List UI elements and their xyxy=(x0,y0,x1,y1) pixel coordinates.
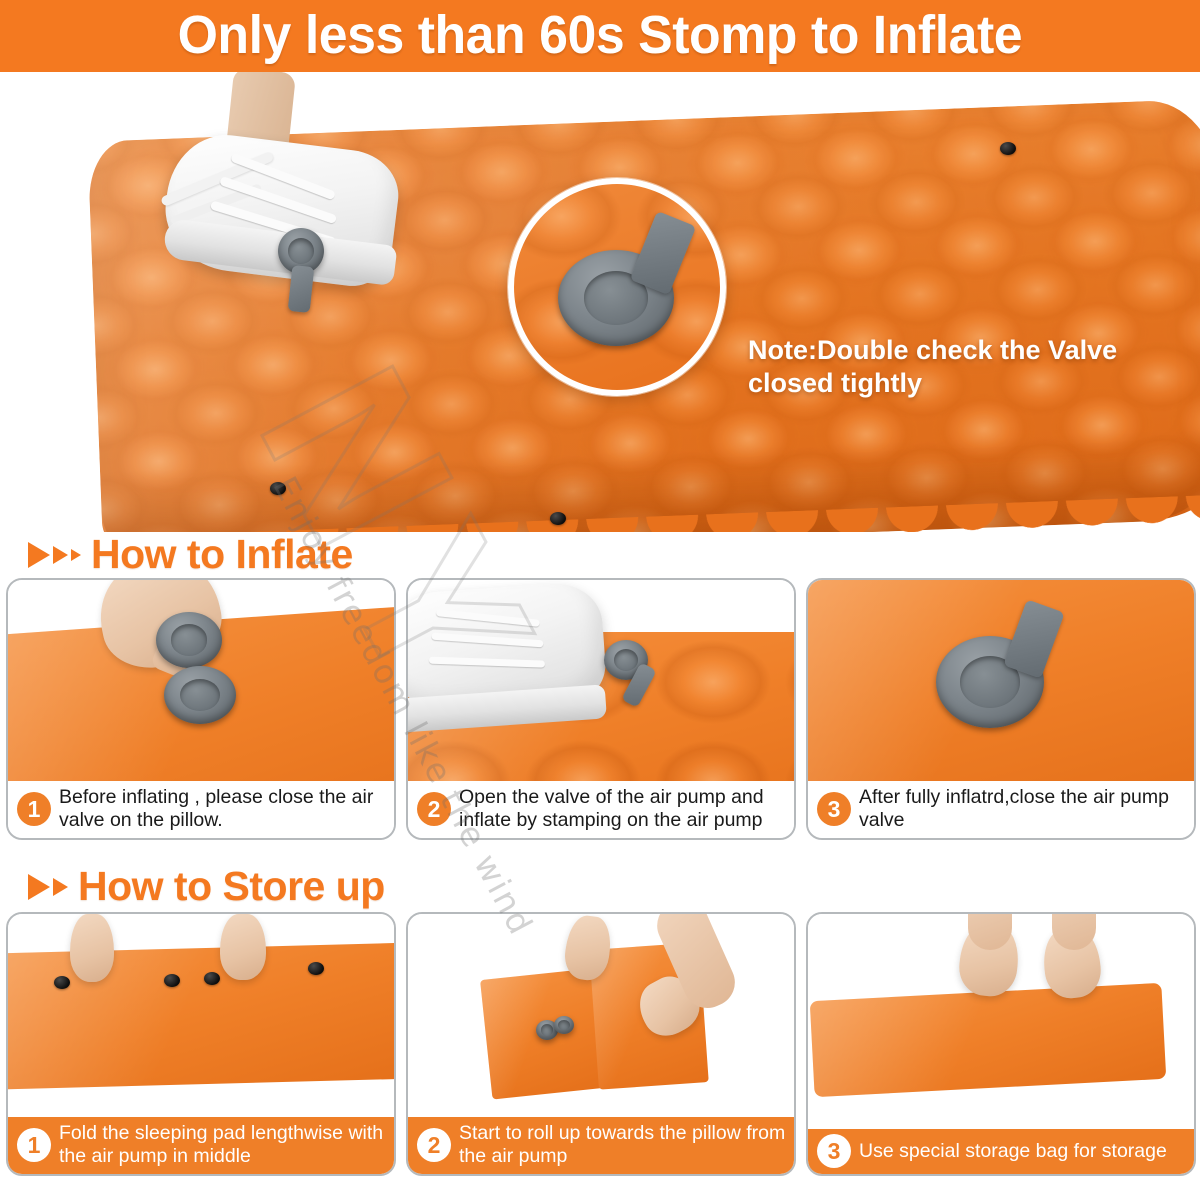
step-image xyxy=(408,580,794,781)
step-caption-text: Before inflating , please close the air … xyxy=(59,786,386,832)
step-number-badge: 2 xyxy=(417,1128,451,1162)
step-image xyxy=(808,914,1194,1129)
valve-note-text: Note:Double check the Valve closed tight… xyxy=(748,334,1188,400)
deflated-pad-fabric xyxy=(8,943,394,1090)
step-panel[interactable]: 2 Open the valve of the air pump and inf… xyxy=(406,578,796,840)
shoe-lace xyxy=(431,633,543,648)
valve-closeup xyxy=(558,250,674,346)
section-title: How to Inflate xyxy=(91,534,353,575)
step-number-badge: 2 xyxy=(417,792,451,826)
section-heading-store: How to Store up xyxy=(28,866,385,907)
step-panel[interactable]: 1 Before inflating , please close the ai… xyxy=(6,578,396,840)
step-caption: 3 After fully inflatrd,close the air pum… xyxy=(808,781,1194,838)
valve-tab xyxy=(288,265,315,313)
step-panel[interactable]: 1 Fold the sleeping pad lengthwise with … xyxy=(6,912,396,1176)
hand xyxy=(220,914,266,980)
pad-snap-dot xyxy=(54,976,70,989)
step-caption: 1 Fold the sleeping pad lengthwise with … xyxy=(8,1117,394,1174)
step-caption-text: After fully inflatrd,close the air pump … xyxy=(859,786,1186,832)
section-heading-inflate: How to Inflate xyxy=(28,534,353,575)
step-caption: 2 Start to roll up towards the pillow fr… xyxy=(408,1117,794,1174)
step-number-badge: 3 xyxy=(817,1134,851,1168)
step-image xyxy=(808,580,1194,781)
step-caption: 2 Open the valve of the air pump and inf… xyxy=(408,781,794,838)
storage-bag xyxy=(810,983,1167,1097)
hero-section: Note:Double check the Valve closed tight… xyxy=(0,72,1200,532)
pad-snap-dot xyxy=(550,512,566,525)
banner-title: Only less than 60s Stomp to Inflate xyxy=(178,8,1023,65)
step-caption: 1 Before inflating , please close the ai… xyxy=(8,781,394,838)
step-caption: 3 Use special storage bag for storage xyxy=(808,1129,1194,1174)
step-panel[interactable]: 2 Start to roll up towards the pillow fr… xyxy=(406,912,796,1176)
section-title: How to Store up xyxy=(78,866,385,907)
header-banner: Only less than 60s Stomp to Inflate xyxy=(0,0,1200,72)
sneaker-image xyxy=(140,80,410,320)
step-number-badge: 3 xyxy=(817,792,851,826)
shoe-lace xyxy=(436,609,540,627)
foot-pump-valve xyxy=(278,228,324,274)
step-caption-text: Fold the sleeping pad lengthwise with th… xyxy=(59,1122,386,1168)
step-panel[interactable]: 3 After fully inflatrd,close the air pum… xyxy=(806,578,1196,840)
step-number-badge: 1 xyxy=(17,792,51,826)
step-panel[interactable]: 3 Use special storage bag for storage xyxy=(806,912,1196,1176)
valve-magnifier-circle xyxy=(508,178,726,396)
pillow-valve-socket xyxy=(164,666,236,724)
step-caption-text: Open the valve of the air pump and infla… xyxy=(459,786,786,832)
pillow-valve-cap xyxy=(156,612,222,668)
step-image xyxy=(8,580,394,781)
step-number-badge: 1 xyxy=(17,1128,51,1162)
pad-snap-dot xyxy=(270,482,286,495)
open-air-pump-valve xyxy=(604,640,648,680)
step-caption-text: Use special storage bag for storage xyxy=(859,1140,1167,1163)
closed-air-pump-valve xyxy=(936,636,1044,728)
pad-snap-dot xyxy=(204,972,220,985)
pad-snap-dot xyxy=(308,962,324,975)
hand xyxy=(70,914,114,982)
pad-valve xyxy=(554,1016,574,1034)
step-image xyxy=(408,914,794,1117)
arrow-markers-icon xyxy=(28,874,68,900)
arrow-markers-icon xyxy=(28,542,81,568)
pad-snap-dot xyxy=(1000,142,1016,155)
step-image xyxy=(8,914,394,1117)
step-caption-text: Start to roll up towards the pillow from… xyxy=(459,1122,786,1168)
pad-snap-dot xyxy=(164,974,180,987)
shoe-lace xyxy=(429,657,545,668)
